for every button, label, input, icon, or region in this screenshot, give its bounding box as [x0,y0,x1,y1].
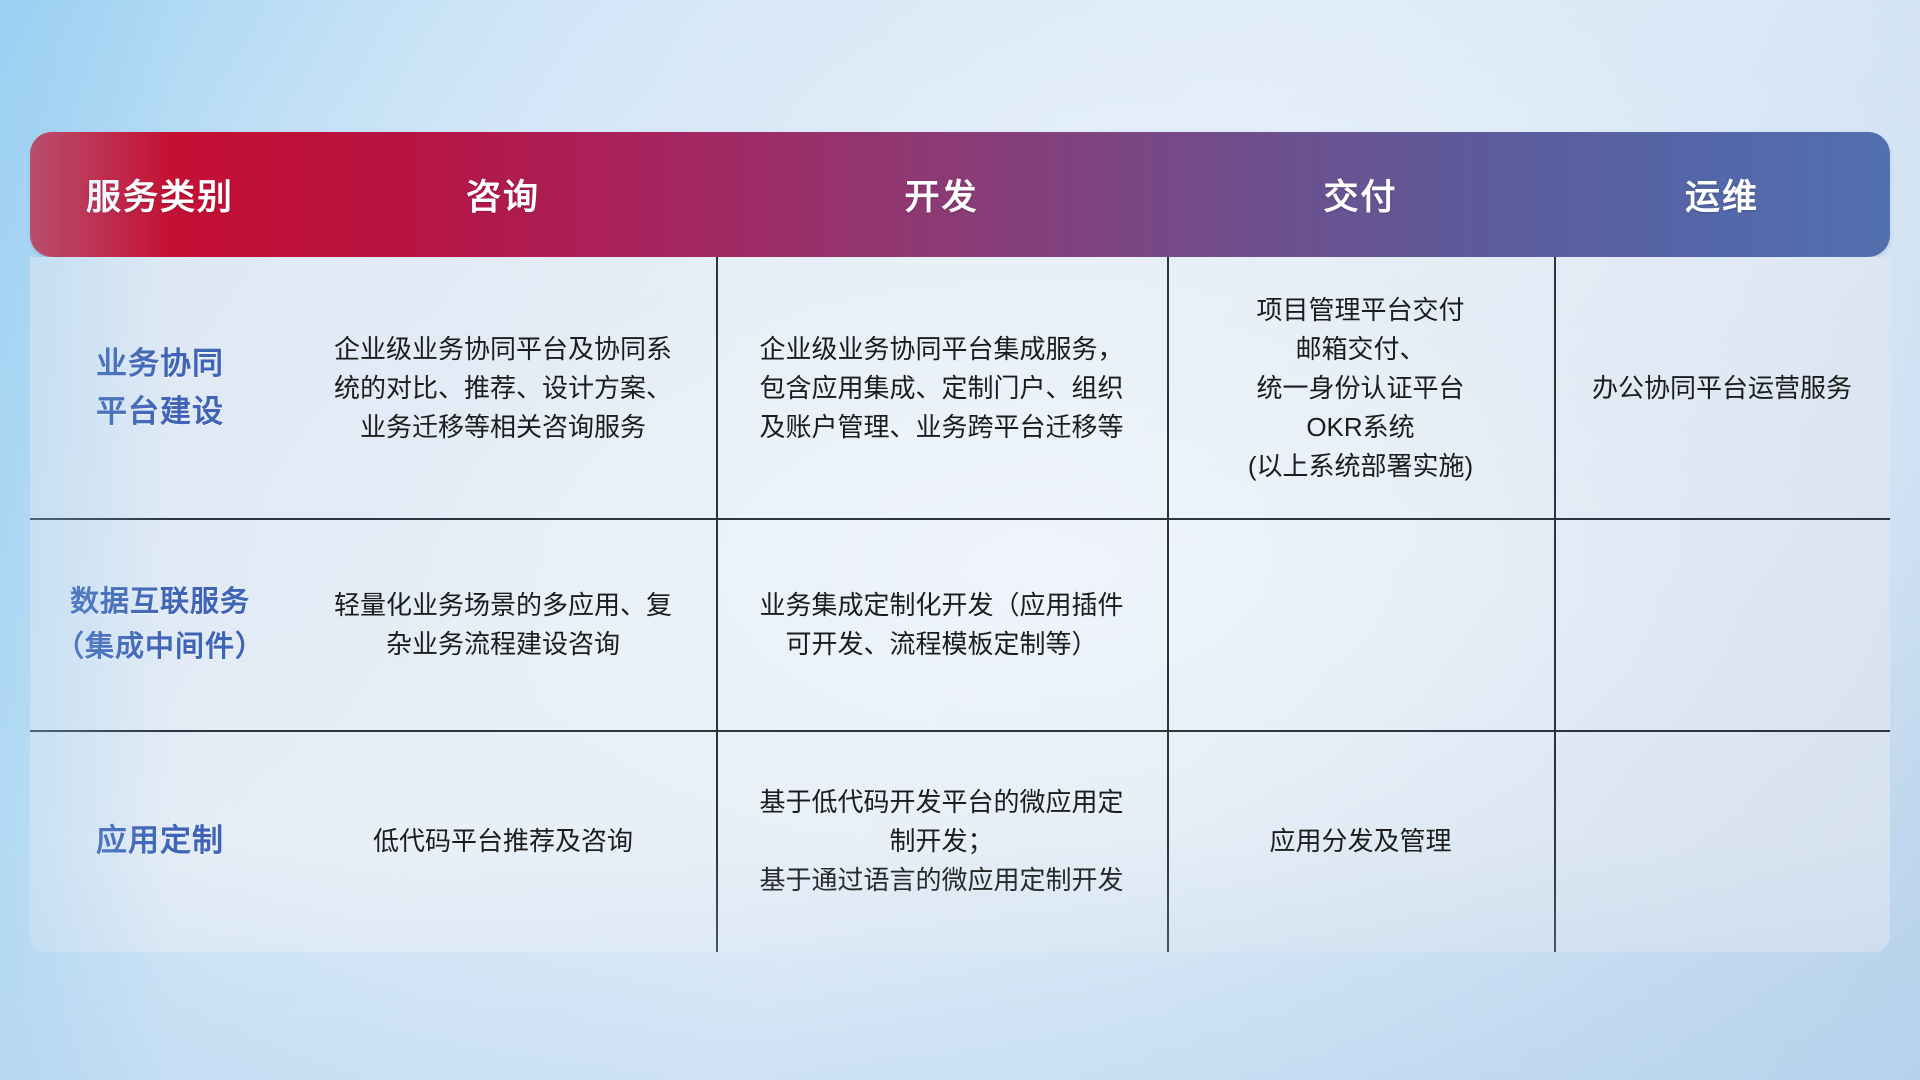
cell-consulting: 轻量化业务场景的多应用、复 杂业务流程建设咨询 [290,519,716,731]
cell-development: 基于低代码开发平台的微应用定 制开发； 基于通过语言的微应用定制开发 [716,731,1167,952]
cell-category: 业务协同 平台建设 [30,257,290,519]
service-category-table: 服务类别 咨询 开发 交付 运维 业务协同 平台建设 企业级业务协同平台及协同系… [30,132,1890,952]
cell-text: 企业级业务协同平台及协同系 统的对比、推荐、设计方案、 业务迁移等相关咨询服务 [334,330,672,447]
cell-consulting: 低代码平台推荐及咨询 [290,731,716,952]
cell-text: 应用分发及管理 [1269,822,1451,861]
column-header-delivery: 交付 [1167,169,1554,220]
cell-delivery: 应用分发及管理 [1167,731,1554,952]
cell-development: 企业级业务协同平台集成服务， 包含应用集成、定制门户、组织 及账户管理、业务跨平… [716,257,1167,519]
table-row: 应用定制 低代码平台推荐及咨询 基于低代码开发平台的微应用定 制开发； 基于通过… [30,731,1890,952]
category-label: 应用定制 [96,817,224,865]
cell-delivery [1167,519,1554,731]
cell-text: 项目管理平台交付 邮箱交付、 统一身份认证平台 OKR系统 (以上系统部署实施) [1248,291,1473,486]
cell-operations [1554,731,1890,952]
cell-text: 办公协同平台运营服务 [1592,369,1852,408]
column-header-consulting: 咨询 [290,169,716,220]
category-label: 数据互联服务 （集成中间件） [55,580,265,670]
cell-category: 应用定制 [30,731,290,952]
column-header-development: 开发 [716,169,1167,220]
column-header-service-category: 服务类别 [30,169,290,220]
cell-development: 业务集成定制化开发（应用插件 可开发、流程模板定制等） [716,519,1167,731]
column-divider [1167,257,1169,952]
column-divider [716,257,718,952]
table-body: 业务协同 平台建设 企业级业务协同平台及协同系 统的对比、推荐、设计方案、 业务… [30,257,1890,952]
column-divider [1554,257,1556,952]
row-divider [30,518,1890,520]
column-header-operations: 运维 [1554,169,1890,220]
cell-text: 企业级业务协同平台集成服务， 包含应用集成、定制门户、组织 及账户管理、业务跨平… [759,330,1123,447]
cell-text: 基于低代码开发平台的微应用定 制开发； 基于通过语言的微应用定制开发 [759,783,1123,900]
cell-category: 数据互联服务 （集成中间件） [30,519,290,731]
cell-consulting: 企业级业务协同平台及协同系 统的对比、推荐、设计方案、 业务迁移等相关咨询服务 [290,257,716,519]
category-label: 业务协同 平台建设 [96,340,224,436]
slide-canvas: 服务类别 咨询 开发 交付 运维 业务协同 平台建设 企业级业务协同平台及协同系… [0,0,1920,1080]
table-row: 数据互联服务 （集成中间件） 轻量化业务场景的多应用、复 杂业务流程建设咨询 业… [30,519,1890,731]
cell-text: 低代码平台推荐及咨询 [373,822,633,861]
cell-delivery: 项目管理平台交付 邮箱交付、 统一身份认证平台 OKR系统 (以上系统部署实施) [1167,257,1554,519]
table-header-row: 服务类别 咨询 开发 交付 运维 [30,132,1890,257]
cell-operations [1554,519,1890,731]
cell-text: 业务集成定制化开发（应用插件 可开发、流程模板定制等） [759,586,1123,664]
cell-text: 轻量化业务场景的多应用、复 杂业务流程建设咨询 [334,586,672,664]
table-row: 业务协同 平台建设 企业级业务协同平台及协同系 统的对比、推荐、设计方案、 业务… [30,257,1890,519]
row-divider [30,730,1890,732]
cell-operations: 办公协同平台运营服务 [1554,257,1890,519]
